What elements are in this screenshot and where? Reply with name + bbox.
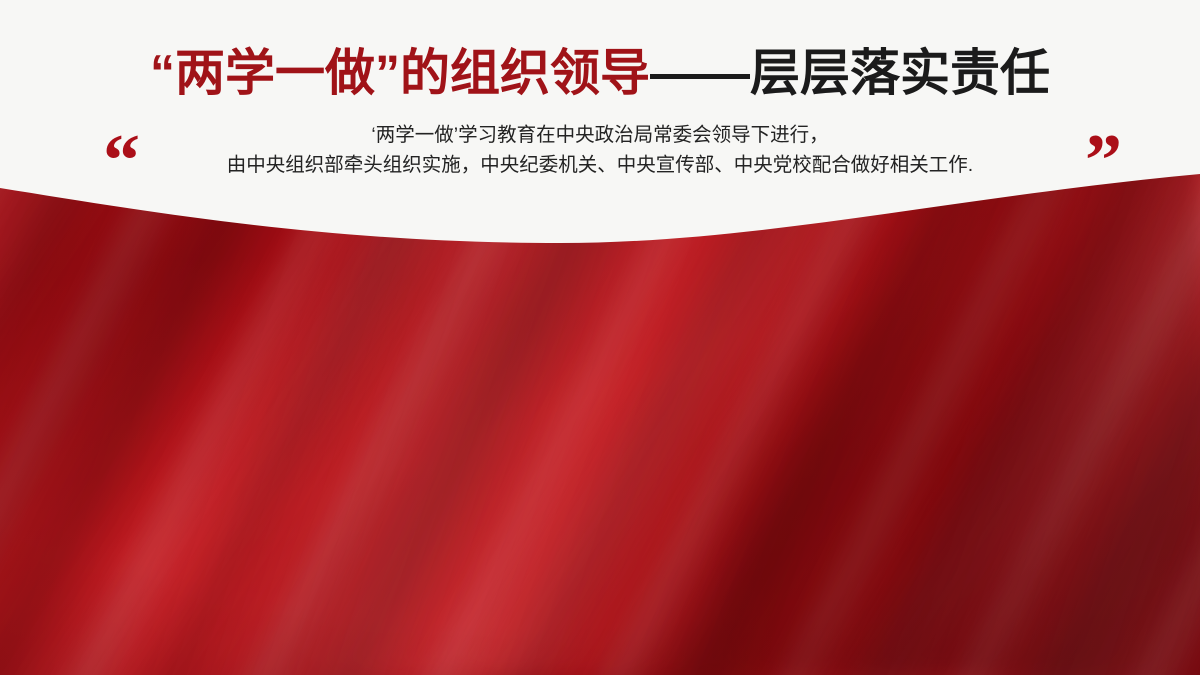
quote-close-icon: ” [1085, 124, 1122, 198]
quote-open-icon: “ [103, 124, 140, 198]
quote-line-2: 由中央组织部牵头组织实施，中央纪委机关、中央宣传部、中央党校配合做好相关工作. [150, 150, 1050, 180]
page-title: “两学一做”的组织领导——层层落实责任 [0, 42, 1200, 104]
quote-text: ‘两学一做’学习教育在中央政治局常委会领导下进行， 由中央组织部牵头组织实施，中… [150, 120, 1050, 180]
slide-canvas: “两学一做”的组织领导——层层落实责任 “ ‘两学一做’学习教育在中央政治局常委… [0, 0, 1200, 675]
page-title-highlight: “两学一做”的组织领导 [150, 45, 650, 101]
page-title-rest: ——层层落实责任 [650, 45, 1050, 101]
quote-block: “ ‘两学一做’学习教育在中央政治局常委会领导下进行， 由中央组织部牵头组织实施… [0, 120, 1200, 200]
quote-line-1: ‘两学一做’学习教育在中央政治局常委会领导下进行， [150, 120, 1050, 150]
